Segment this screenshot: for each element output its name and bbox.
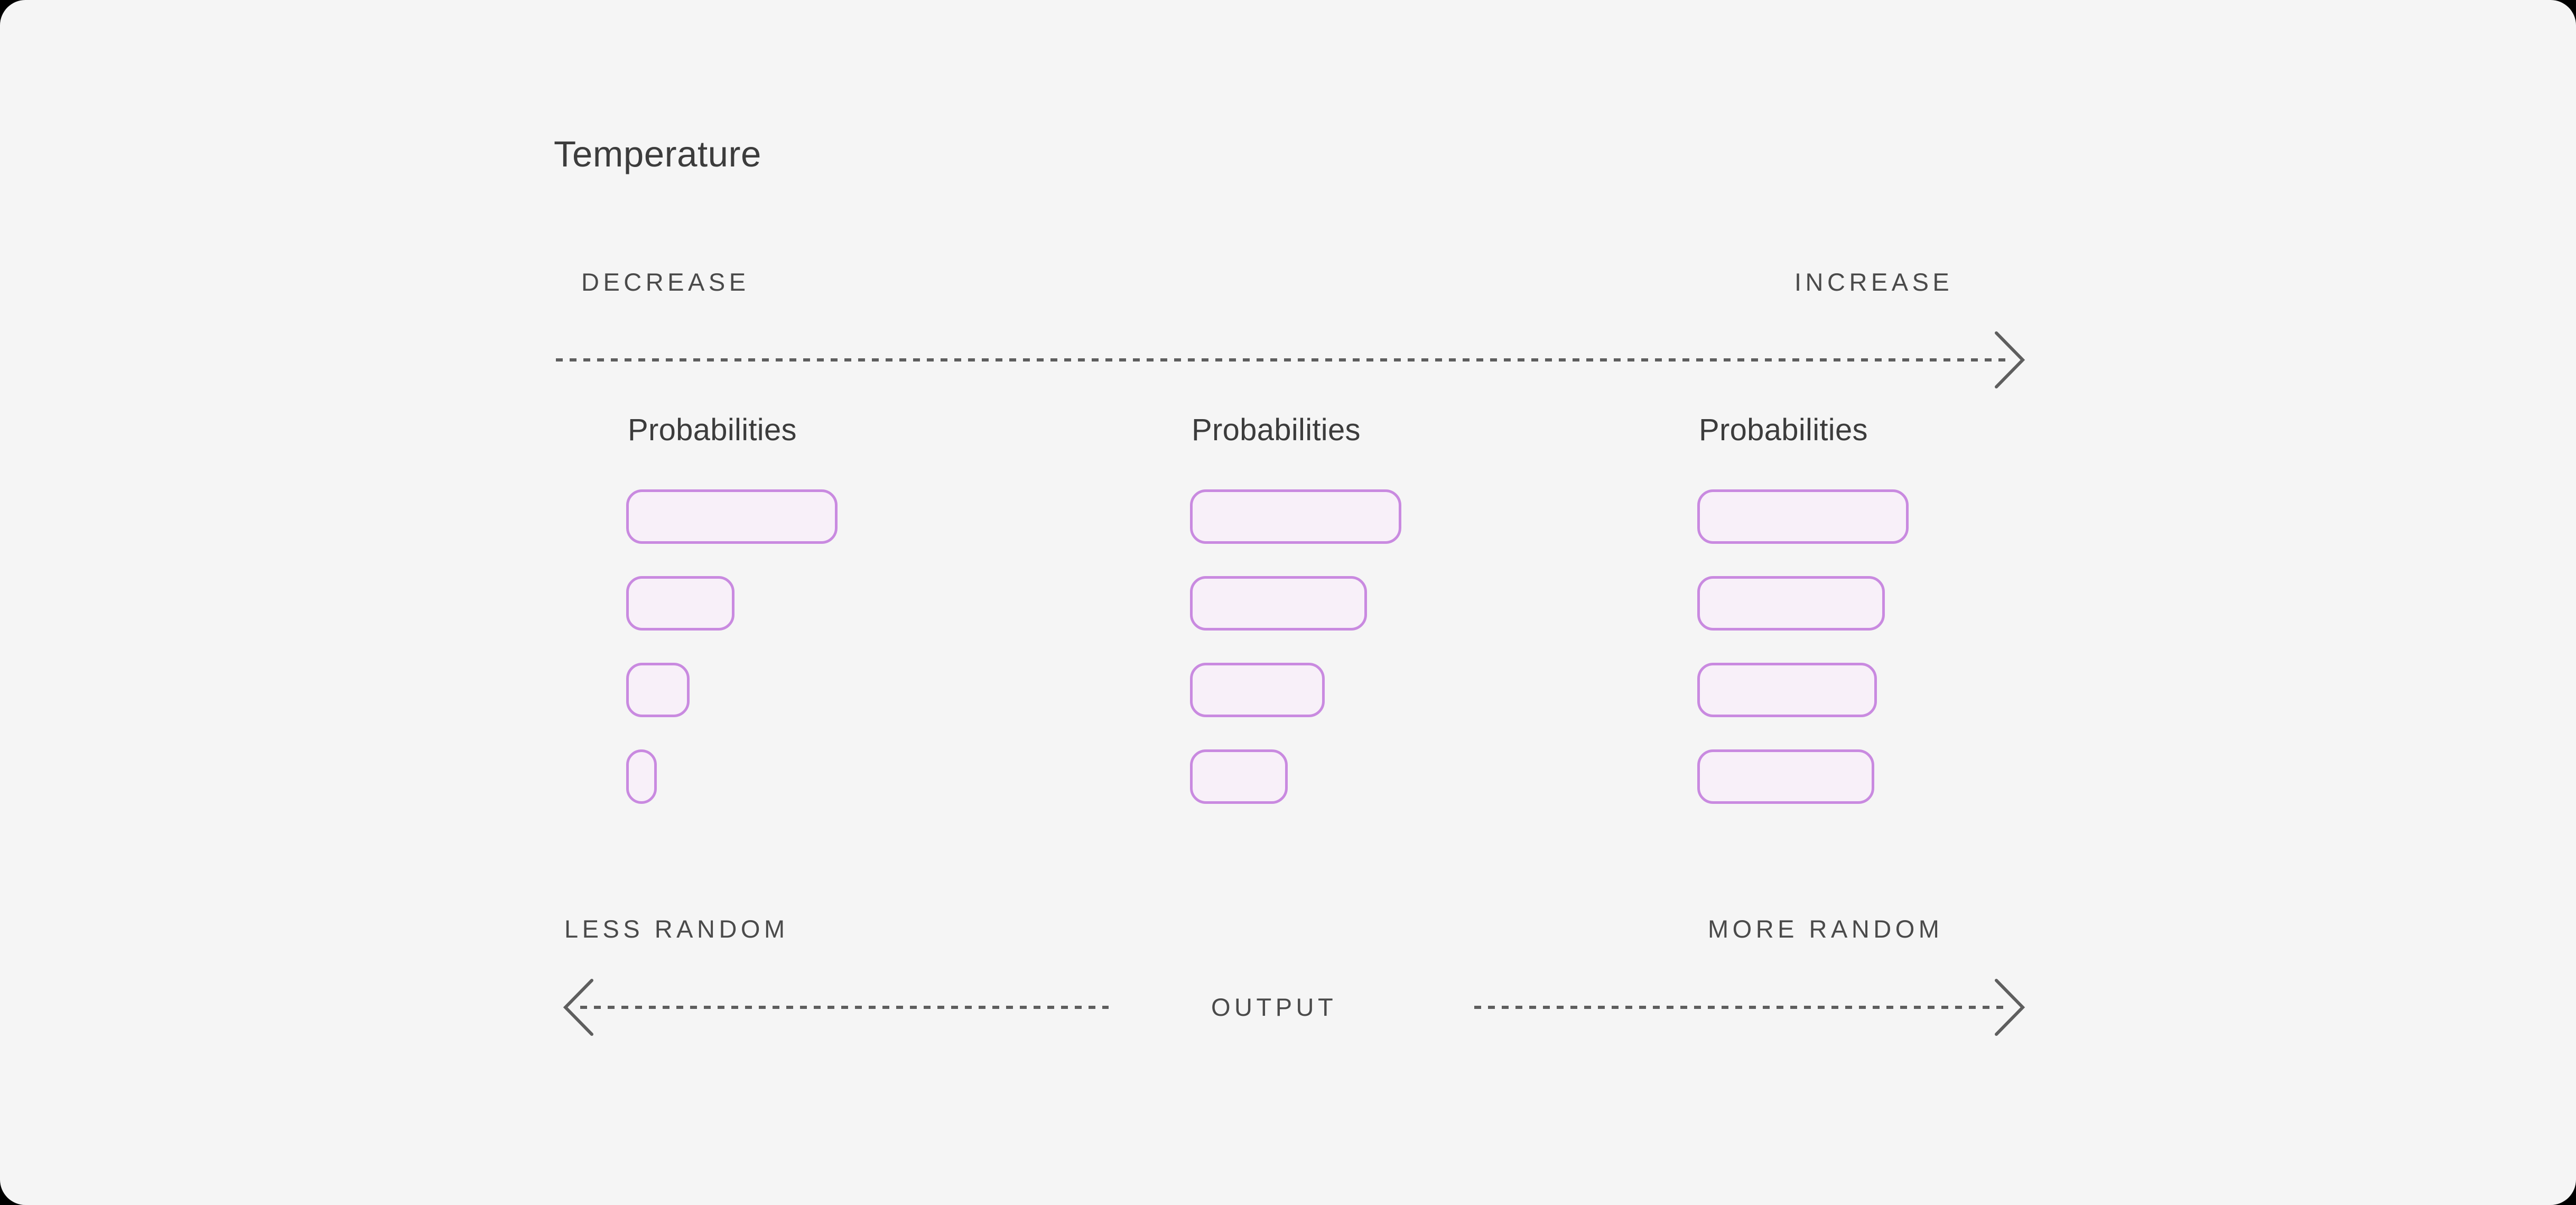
diagram-card: Temperature DECREASE INCREASE Probabilit…: [0, 0, 2576, 1205]
bottom-arrow-right-icon: [0, 0, 2576, 1205]
